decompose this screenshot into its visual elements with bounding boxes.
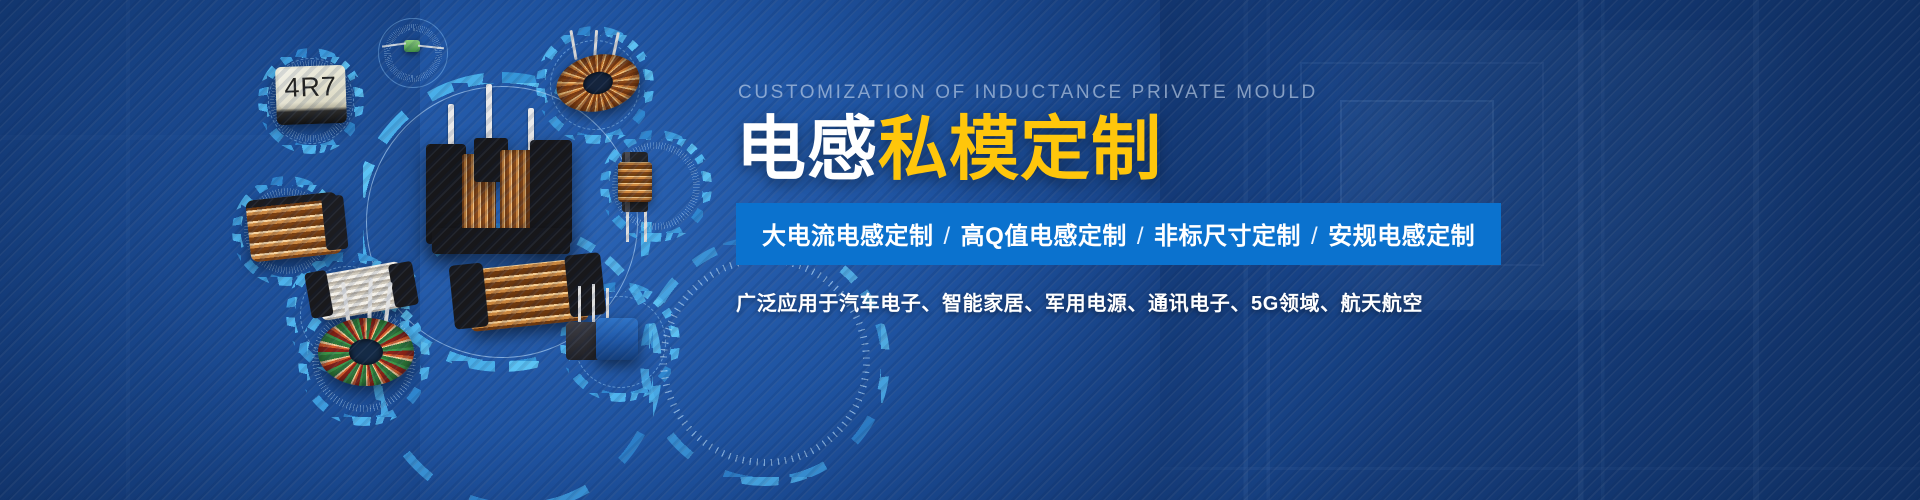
feature-highlight-box: 大电流电感定制/高Q值电感定制/非标尺寸定制/安规电感定制 [736,203,1501,265]
feature-separator: / [934,223,961,250]
banner-description: 广泛应用于汽车电子、智能家居、军用电源、通讯电子、5G领域、航天航空 [736,287,1836,316]
title-part-white: 电感 [736,110,878,188]
feature-item-2: 非标尺寸定制 [1154,223,1301,250]
banner-eyebrow: CUSTOMIZATION OF INDUCTANCE PRIVATE MOUL… [738,82,1836,104]
feature-item-1: 高Q值电感定制 [961,223,1127,250]
feature-separator: / [1127,223,1154,250]
feature-separator: / [1301,223,1328,250]
banner-text-block: CUSTOMIZATION OF INDUCTANCE PRIVATE MOUL… [736,82,1836,316]
product-hero-banner: CUSTOMIZATION OF INDUCTANCE PRIVATE MOUL… [0,0,1920,500]
page-title: 电感私模定制 [736,114,1836,185]
feature-item-3: 安规电感定制 [1328,223,1475,250]
feature-list: 大电流电感定制/高Q值电感定制/非标尺寸定制/安规电感定制 [762,216,1475,251]
title-part-yellow: 私模定制 [878,110,1162,188]
feature-item-0: 大电流电感定制 [762,223,934,250]
